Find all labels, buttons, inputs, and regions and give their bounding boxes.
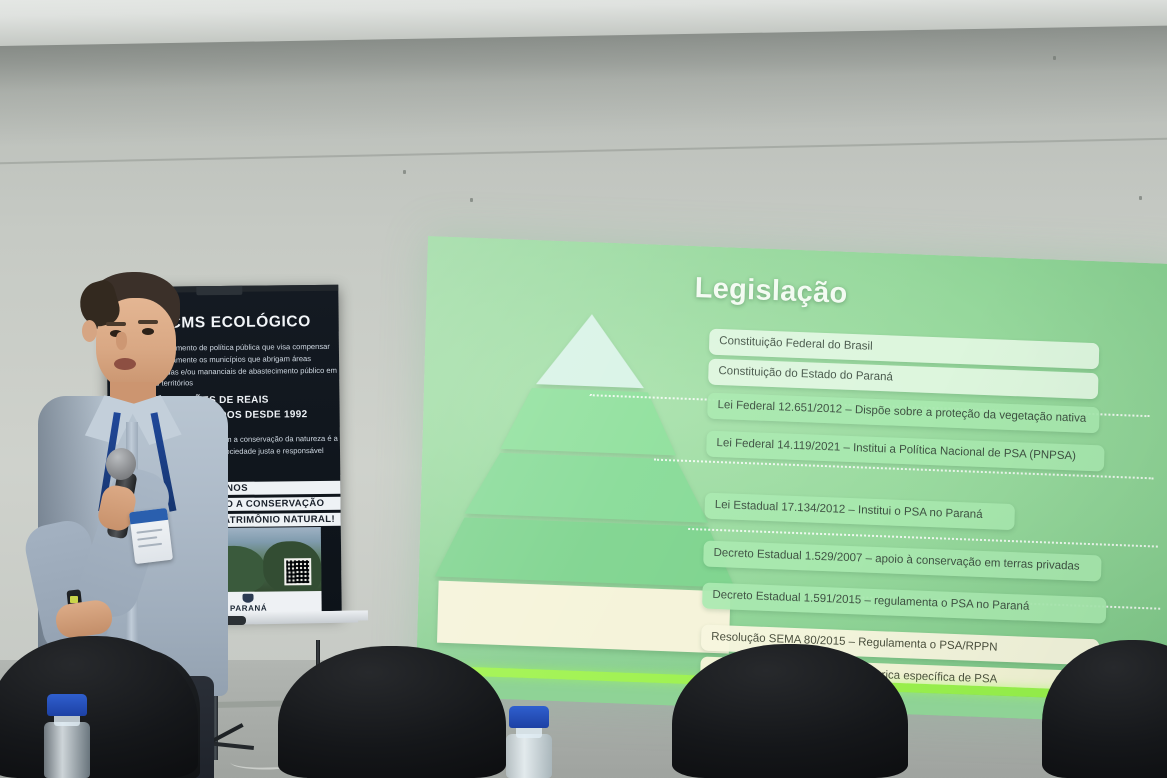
water-bottle-center xyxy=(506,734,552,778)
speaker-ear xyxy=(82,320,97,342)
badge-text-line xyxy=(138,543,162,548)
badge-text-line xyxy=(136,529,162,534)
parana-logo-label: PARANÁ xyxy=(230,603,267,612)
presentation-photo-scene: Legislação Constituição Federal do Brasi… xyxy=(0,0,1167,778)
bottle-cap-left xyxy=(47,694,87,716)
speaker-brow xyxy=(106,322,126,326)
wall-speck xyxy=(470,198,473,202)
conference-badge xyxy=(129,508,173,564)
parana-crest-icon xyxy=(243,593,254,602)
speaker-person xyxy=(10,272,230,692)
bottle-cap-center xyxy=(509,706,549,728)
speaker-nose xyxy=(116,332,127,350)
wall-speck xyxy=(1139,196,1142,200)
speaker-mouth xyxy=(114,358,136,370)
speaker-eye xyxy=(142,328,154,335)
water-bottle-left xyxy=(44,722,90,778)
parana-logo: PARANÁ xyxy=(230,593,267,612)
badge-text-line xyxy=(137,536,157,540)
wall-speck xyxy=(403,170,406,174)
wall-speck xyxy=(1053,56,1056,60)
qr-code xyxy=(284,558,311,585)
speaker-brow xyxy=(138,320,158,324)
